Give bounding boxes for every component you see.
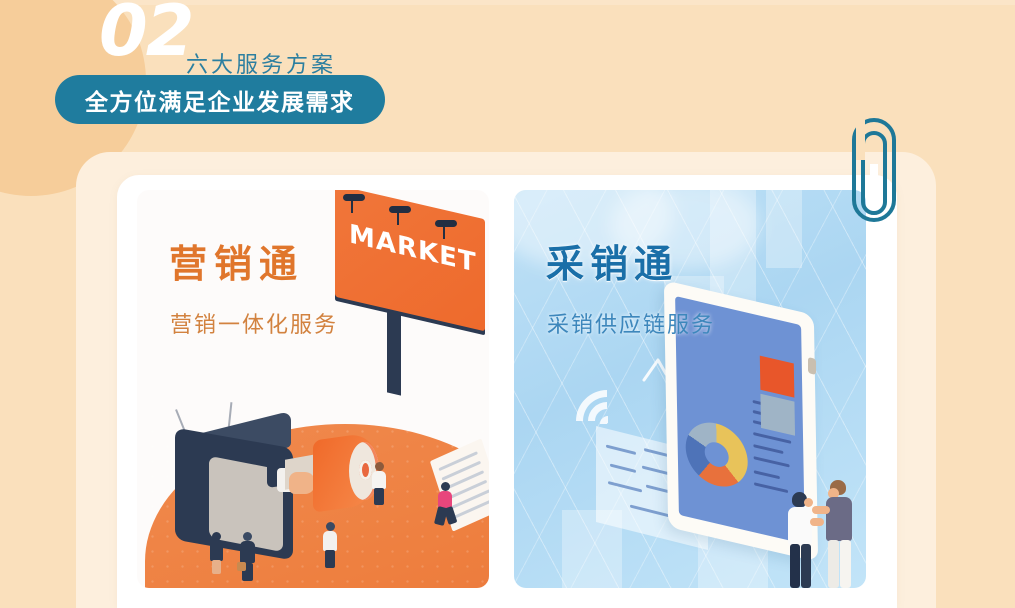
billboard-lamp-3	[435, 220, 457, 227]
section-badge-label: 全方位满足企业发展需求	[85, 83, 355, 117]
tablet-side-button	[808, 357, 816, 375]
person-figure	[321, 522, 339, 570]
person-figure-running	[433, 482, 459, 528]
service-card-row: MARKET	[137, 190, 877, 590]
service-card-procurement[interactable]: 采销通 采销供应链服务	[514, 190, 866, 588]
screen-tile-orange	[760, 356, 795, 398]
section-number: 02	[99, 0, 192, 66]
soft-panel	[766, 190, 802, 268]
billboard-post	[387, 308, 401, 395]
service-card-marketing[interactable]: MARKET	[137, 190, 489, 588]
card-subtitle: 采销供应链服务	[547, 307, 715, 339]
card-title: 营销通	[169, 246, 304, 284]
donut-chart-icon	[685, 416, 748, 493]
billboard-lamp-arm-1	[351, 200, 353, 213]
card-title: 采销通	[546, 246, 678, 284]
section-badge: 全方位满足企业发展需求	[55, 75, 385, 124]
billboard-lamp-2	[389, 206, 411, 213]
card-subtitle: 营销一体化服务	[170, 307, 338, 339]
person-figure	[237, 532, 257, 584]
paperclip-icon	[852, 118, 896, 222]
billboard-lamp-arm-2	[397, 212, 399, 225]
person-figure	[369, 462, 389, 506]
person-figure	[820, 480, 860, 588]
poster-canvas: 02 六大服务方案 全方位满足企业发展需求	[0, 0, 1015, 608]
screen-tile-grey	[760, 394, 795, 436]
billboard-illustration: MARKET	[319, 198, 489, 408]
megaphone-hand	[289, 472, 315, 494]
person-figure	[207, 532, 225, 578]
billboard-lamp-1	[343, 194, 365, 201]
billboard-lamp-arm-3	[443, 226, 445, 239]
